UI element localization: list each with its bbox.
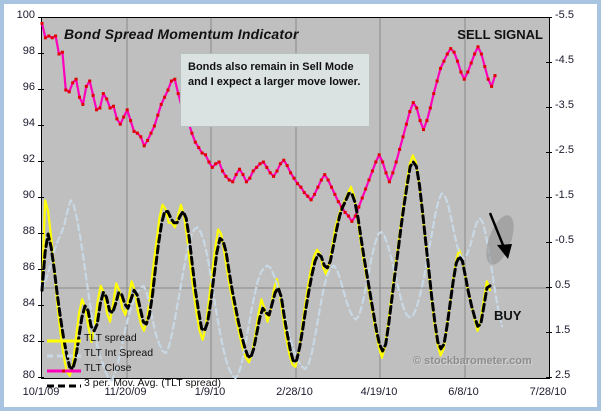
y2-tick-mark [546, 377, 552, 378]
legend-label-tlt-close: TLT Close [84, 362, 131, 374]
plot-area: Bond Spread Momentum Indicator Bonds als… [41, 17, 550, 379]
legend-swatch-tlt-spread [47, 333, 81, 343]
y-tick-label: 94 [7, 117, 35, 129]
y-tick-label: 88 [7, 225, 35, 237]
x-tick-label: 1/9/10 [175, 386, 245, 398]
y2-tick-mark [546, 197, 552, 198]
y-tick-mark [38, 305, 44, 306]
legend-swatch-tlt-int-spread [47, 348, 81, 358]
y-tick-mark [38, 161, 44, 162]
x-tick-label: 7/28/10 [513, 386, 583, 398]
y-tick-label: 98 [7, 45, 35, 57]
y-tick-mark [38, 53, 44, 54]
y2-tick-mark [546, 152, 552, 153]
legend-label-tlt-spread: TLT spread [84, 332, 137, 344]
legend-item-tlt-int-spread: TLT Int Spread [47, 345, 257, 360]
y-tick-label: 86 [7, 261, 35, 273]
y2-tick-label: -4.5 [555, 54, 589, 66]
x-tick-label: 2/28/10 [260, 386, 330, 398]
y2-tick-mark [546, 62, 552, 63]
x-tick-label: 4/19/10 [344, 386, 414, 398]
y-tick-mark [38, 269, 44, 270]
y2-tick-mark [546, 287, 552, 288]
y-tick-label: 82 [7, 333, 35, 345]
y2-tick-label: -3.5 [555, 99, 589, 111]
y2-tick-mark [546, 17, 552, 18]
y-tick-label: 96 [7, 81, 35, 93]
x-tick-label: 11/20/09 [91, 386, 161, 398]
y-tick-mark [38, 233, 44, 234]
y2-tick-mark [546, 242, 552, 243]
chart-screenshot: Bond Spread Momentum Indicator Bonds als… [0, 0, 601, 411]
legend: TLT spread TLT Int Spread TLT Close 3 pe… [47, 330, 257, 390]
legend-swatch-tlt-close [47, 363, 81, 373]
legend-item-tlt-close: TLT Close [47, 360, 257, 375]
legend-item-tlt-spread: TLT spread [47, 330, 257, 345]
y-tick-mark [38, 197, 44, 198]
y-tick-mark [38, 17, 44, 18]
y2-tick-mark [546, 107, 552, 108]
y-tick-label: 90 [7, 189, 35, 201]
y-tick-mark [38, 89, 44, 90]
y-tick-mark [38, 341, 44, 342]
y-tick-label: 100 [7, 9, 35, 21]
y2-tick-label: -5.5 [555, 9, 589, 21]
x-tick-label: 6/8/10 [429, 386, 499, 398]
y-tick-mark [38, 377, 44, 378]
down-arrow-icon [42, 18, 549, 378]
y2-tick-label: 0.5 [555, 279, 589, 291]
y-tick-mark [38, 125, 44, 126]
chart-canvas: Bond Spread Momentum Indicator Bonds als… [4, 4, 597, 407]
x-tick-label: 10/1/09 [6, 386, 76, 398]
y2-tick-label: -2.5 [555, 144, 589, 156]
legend-label-tlt-int-spread: TLT Int Spread [84, 347, 153, 359]
y2-tick-label: -1.5 [555, 189, 589, 201]
y2-tick-label: 2.5 [555, 369, 589, 381]
y-tick-label: 80 [7, 369, 35, 381]
y2-tick-mark [546, 332, 552, 333]
y2-tick-label: -0.5 [555, 234, 589, 246]
y2-tick-label: 1.5 [555, 324, 589, 336]
y-tick-label: 92 [7, 153, 35, 165]
y-tick-label: 84 [7, 297, 35, 309]
